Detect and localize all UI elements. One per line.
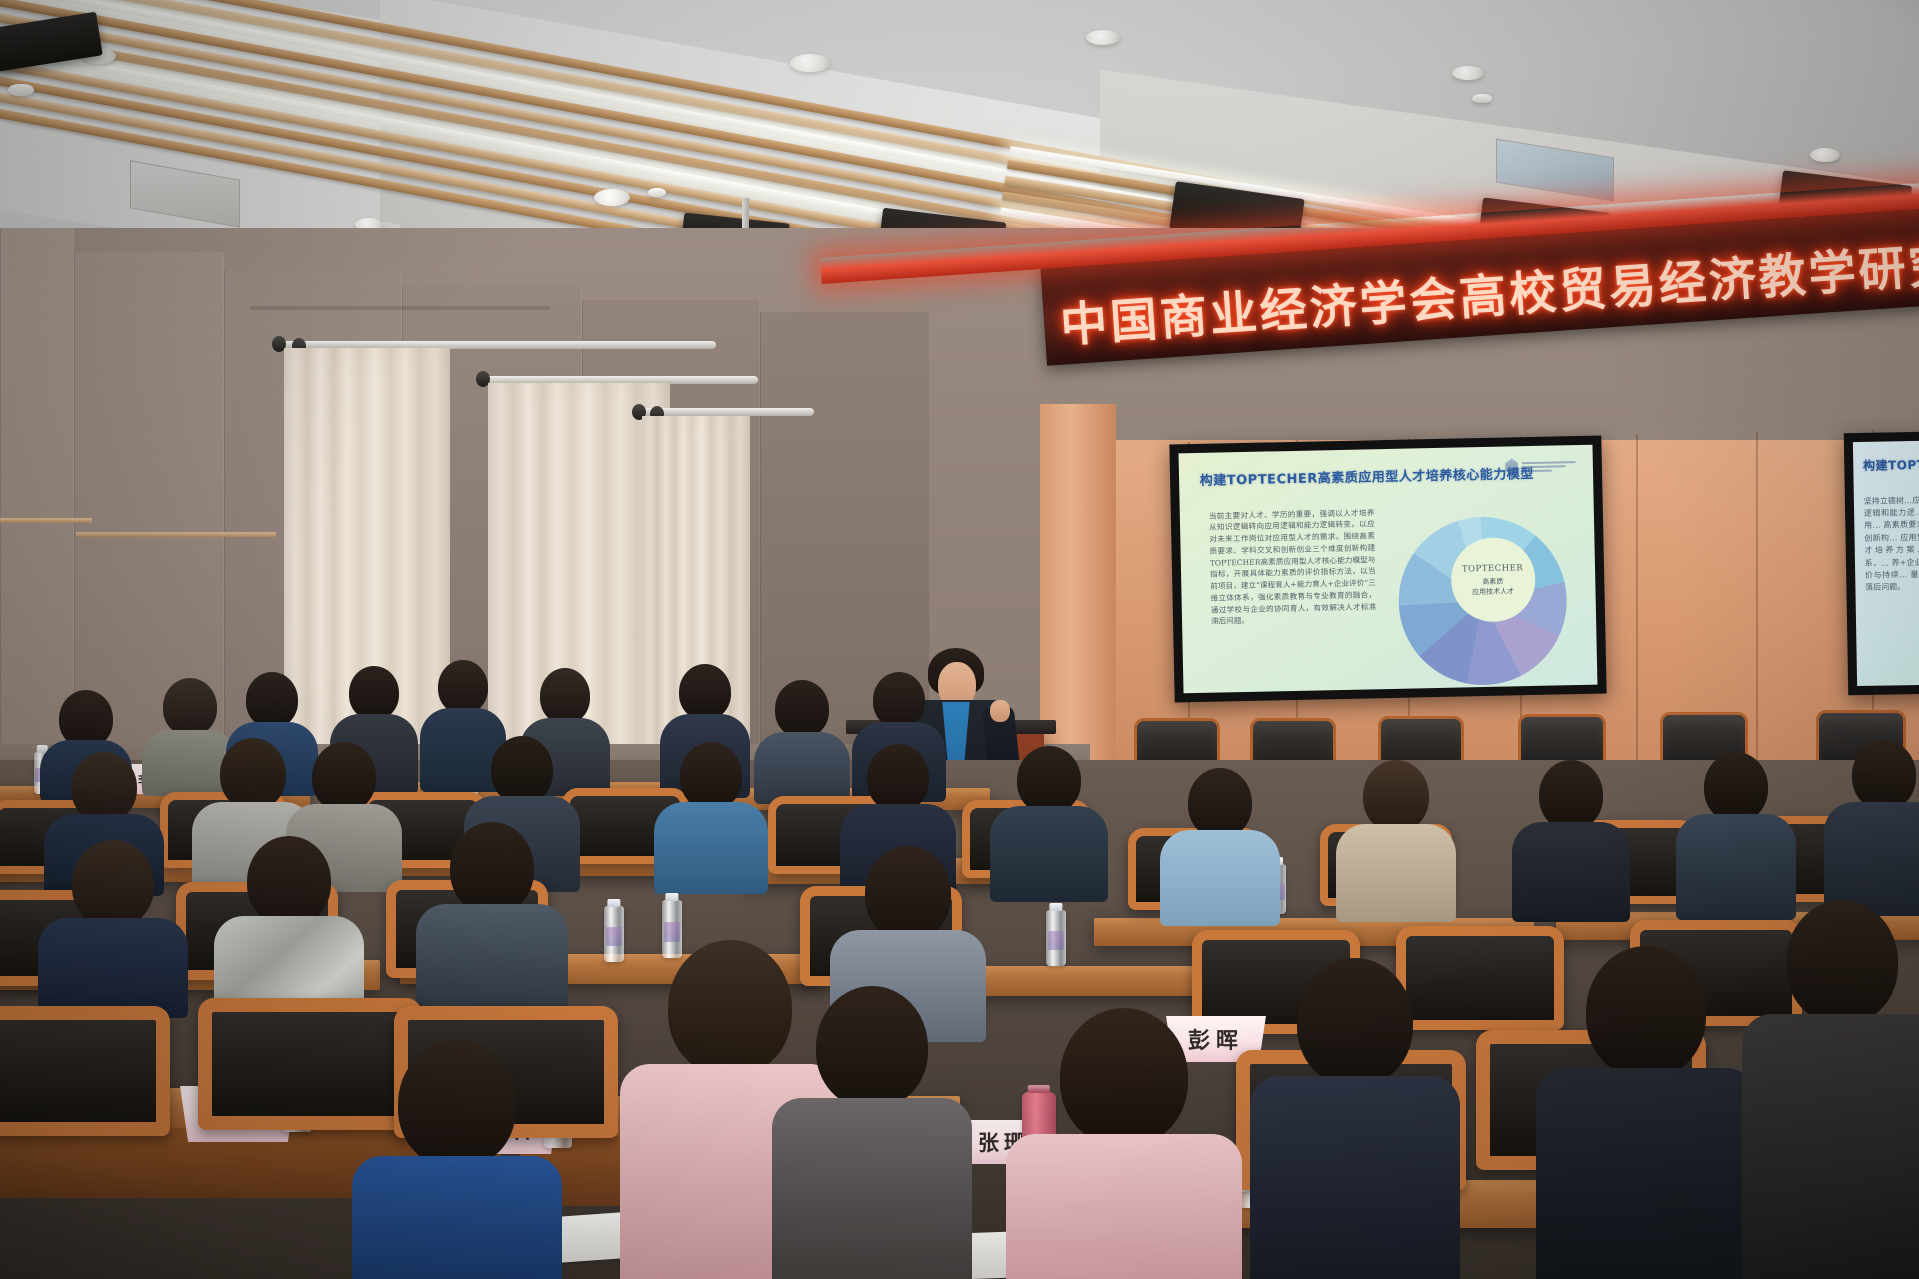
person-torso	[1742, 1014, 1919, 1279]
speaker-hand	[990, 700, 1010, 722]
person-head	[450, 822, 534, 914]
person-head	[71, 752, 137, 822]
person-torso	[38, 918, 188, 1018]
person-head	[438, 660, 488, 714]
wood-wall-pilaster	[1040, 404, 1116, 796]
donut-center-title: TOPTECHER	[1462, 563, 1523, 574]
smoke-detector-icon	[8, 84, 34, 96]
person-torso	[1006, 1134, 1242, 1279]
smoke-detector-icon	[1472, 94, 1492, 103]
person-head	[220, 738, 286, 810]
person-head	[312, 742, 376, 812]
smoke-detector-icon	[648, 188, 666, 197]
audience-member	[1676, 752, 1796, 920]
ceiling-downlight	[1452, 66, 1484, 80]
person-torso	[990, 806, 1108, 902]
front-audience-member	[1006, 1008, 1242, 1279]
person-torso	[1536, 1068, 1756, 1279]
front-audience-member	[352, 1040, 562, 1279]
person-head	[1363, 760, 1429, 832]
audience-member	[38, 840, 188, 1016]
presentation-slide-secondary: 构建TOPTE 坚持立德树…应用在人才培… 逻辑和能力逻… 作岗位对应用… 高素…	[1853, 440, 1919, 686]
front-audience-member	[1536, 946, 1756, 1279]
person-torso	[1160, 830, 1280, 926]
person-torso	[1336, 824, 1456, 922]
person-head	[1586, 946, 1706, 1078]
audience-member	[214, 836, 364, 1020]
main-projection-screen: 构建TOPTECHER高素质应用型人才培养核心能力模型 当前主要对人才、学历的重…	[1169, 436, 1606, 703]
front-audience-member	[1742, 900, 1919, 1279]
person-head	[867, 744, 929, 812]
audience-member	[416, 822, 568, 1014]
person-head	[1852, 740, 1916, 810]
person-head	[1017, 746, 1081, 814]
person-torso	[1824, 802, 1919, 916]
person-head	[816, 986, 928, 1108]
wall-rail	[250, 306, 550, 310]
person-torso	[416, 904, 568, 1016]
ceiling-downlight	[1810, 148, 1840, 162]
person-head	[1786, 900, 1898, 1024]
slide-title: 构建TOPTECHER高素质应用型人才培养核心能力模型	[1200, 463, 1534, 489]
person-head	[873, 672, 925, 728]
person-torso	[654, 802, 768, 894]
person-head	[1188, 768, 1252, 838]
person-torso	[754, 732, 850, 804]
slide-body-text: 当前主要对人才、学历的重要，强调以人才培养从知识逻辑转向应用逻辑和能力逻辑转变，…	[1209, 507, 1377, 628]
person-torso	[1512, 822, 1630, 922]
slide-body-secondary: 坚持立德树…应用在人才培… 逻辑和能力逻… 作岗位对应用… 高素质要求、… 个维…	[1864, 494, 1919, 595]
person-head	[163, 678, 217, 736]
audience-member	[1824, 740, 1919, 916]
person-torso	[772, 1098, 972, 1279]
person-torso	[1250, 1076, 1460, 1279]
person-head	[1060, 1008, 1188, 1146]
person-head	[775, 680, 829, 738]
person-head	[680, 742, 742, 810]
donut-center-line3: 应用技术人才	[1472, 586, 1514, 597]
front-audience-member	[772, 986, 972, 1279]
person-head	[246, 672, 298, 728]
person-head	[72, 840, 154, 928]
wall-rail	[0, 518, 92, 523]
person-head	[865, 846, 951, 940]
wood-panel-seam	[1756, 432, 1758, 792]
person-head	[247, 836, 331, 926]
audience-member	[654, 742, 768, 894]
conference-hall-photo: 中国商业经济学会高校贸易经济教学研究工 构建TOPTECHER高素质应用型人才培…	[0, 0, 1919, 1279]
wall-rail	[76, 532, 276, 537]
audience-member	[990, 746, 1108, 902]
person-head	[1539, 760, 1603, 830]
person-head	[1704, 752, 1768, 822]
ceiling-downlight	[1086, 30, 1120, 45]
person-torso	[352, 1156, 562, 1279]
front-audience-chair[interactable]	[0, 1006, 170, 1136]
ceiling-downlight	[594, 189, 630, 206]
person-head	[540, 668, 590, 724]
donut-center-line2: 高素质	[1482, 576, 1503, 586]
water-bottle	[1046, 910, 1066, 966]
ceiling-downlight	[790, 54, 830, 72]
audience-member	[1160, 768, 1280, 926]
front-audience-member	[1250, 958, 1460, 1279]
audience-member	[754, 680, 850, 804]
person-head	[679, 664, 731, 720]
audience-member	[1336, 760, 1456, 922]
person-head	[1297, 958, 1413, 1086]
slide-title-secondary: 构建TOPTE	[1863, 455, 1919, 473]
wood-panel-seam	[1636, 434, 1638, 792]
person-head	[349, 666, 399, 720]
person-head	[398, 1040, 516, 1168]
person-head	[491, 736, 553, 804]
presentation-slide: 构建TOPTECHER高素质应用型人才培养核心能力模型 当前主要对人才、学历的重…	[1179, 445, 1598, 694]
audience-member	[1512, 760, 1630, 922]
secondary-projection-screen: 构建TOPTE 坚持立德树…应用在人才培… 逻辑和能力逻… 作岗位对应用… 高素…	[1844, 431, 1919, 695]
